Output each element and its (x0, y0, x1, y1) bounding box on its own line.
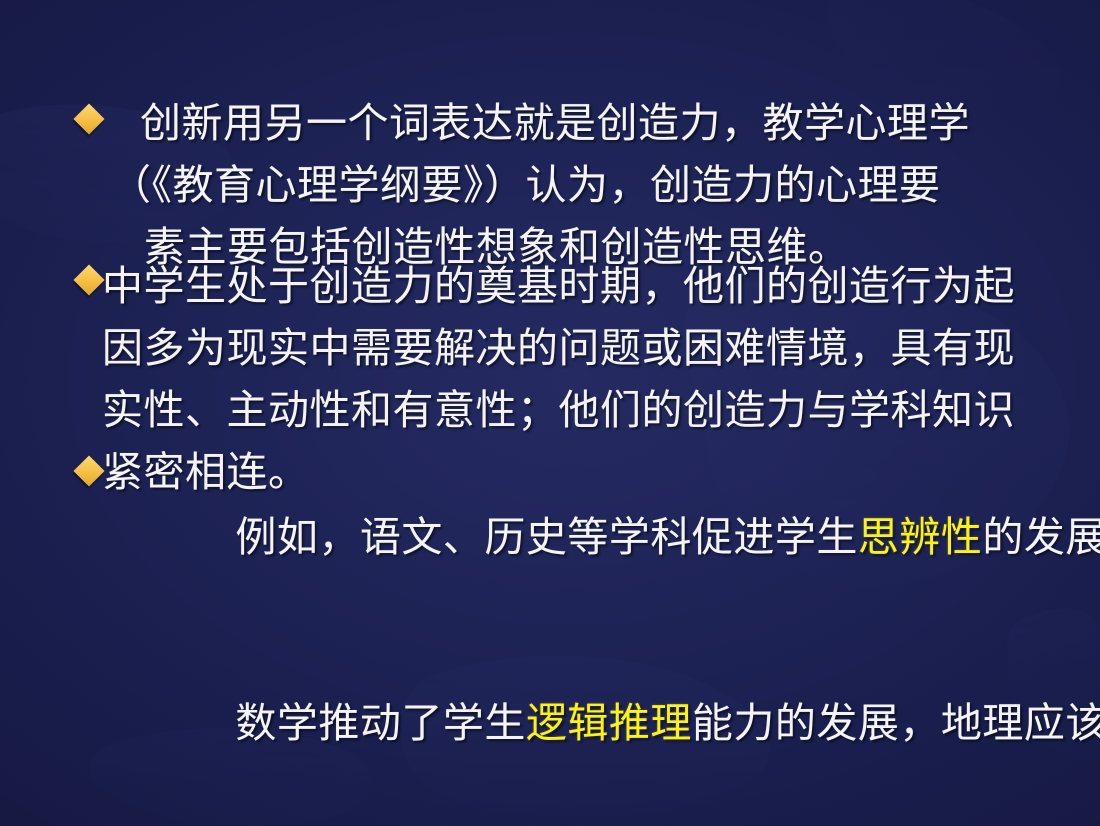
highlighted-term: 思辨性 (858, 513, 983, 561)
presentation-slide: 创新用另一个词表达就是创造力，教学心理学 （《教育心理学纲要》）认为，创造力的心… (0, 0, 1100, 826)
text-segment: 的发展， (982, 513, 1100, 561)
highlighted-term: 逻辑推理 (526, 699, 692, 747)
text-line: 中学生处于创造力的奠基时期，他们的创造行为起 (72, 255, 1082, 317)
text-line: 创新用另一个词表达就是创造力，教学心理学 (72, 92, 1082, 154)
text-line: 数学推动了学生逻辑推理能力的发展，地理应该是 (72, 630, 1082, 816)
text-segment: 能力的发展，地理应该是 (692, 699, 1100, 747)
text-segment: 例如，语文、历史等学科促进学生 (235, 513, 858, 561)
text-line: 因多为现实中需要解决的问题或困难情境，具有现 (72, 317, 1082, 379)
bullet-paragraph-3: 例如，语文、历史等学科促进学生思辨性的发展， 数学推动了学生逻辑推理能力的发展，… (72, 444, 1082, 826)
bullet-paragraph-1: 创新用另一个词表达就是创造力，教学心理学 （《教育心理学纲要》）认为，创造力的心… (72, 92, 1082, 278)
text-line: （《教育心理学纲要》）认为，创造力的心理要 (72, 154, 1082, 216)
text-line: 两者兼而有之。既然学生的创造行为与问题有关， (72, 816, 1082, 826)
text-line: 例如，语文、历史等学科促进学生思辨性的发展， (72, 444, 1082, 630)
bullet-3-lines: 例如，语文、历史等学科促进学生思辨性的发展， 数学推动了学生逻辑推理能力的发展，… (72, 444, 1082, 826)
text-line: 实性、主动性和有意性；他们的创造力与学科知识 (72, 379, 1082, 441)
bullet-1-lines: 创新用另一个词表达就是创造力，教学心理学 （《教育心理学纲要》）认为，创造力的心… (72, 92, 1082, 278)
slide-content: 创新用另一个词表达就是创造力，教学心理学 （《教育心理学纲要》）认为，创造力的心… (0, 0, 1100, 826)
text-segment: 数学推动了学生 (235, 699, 526, 747)
